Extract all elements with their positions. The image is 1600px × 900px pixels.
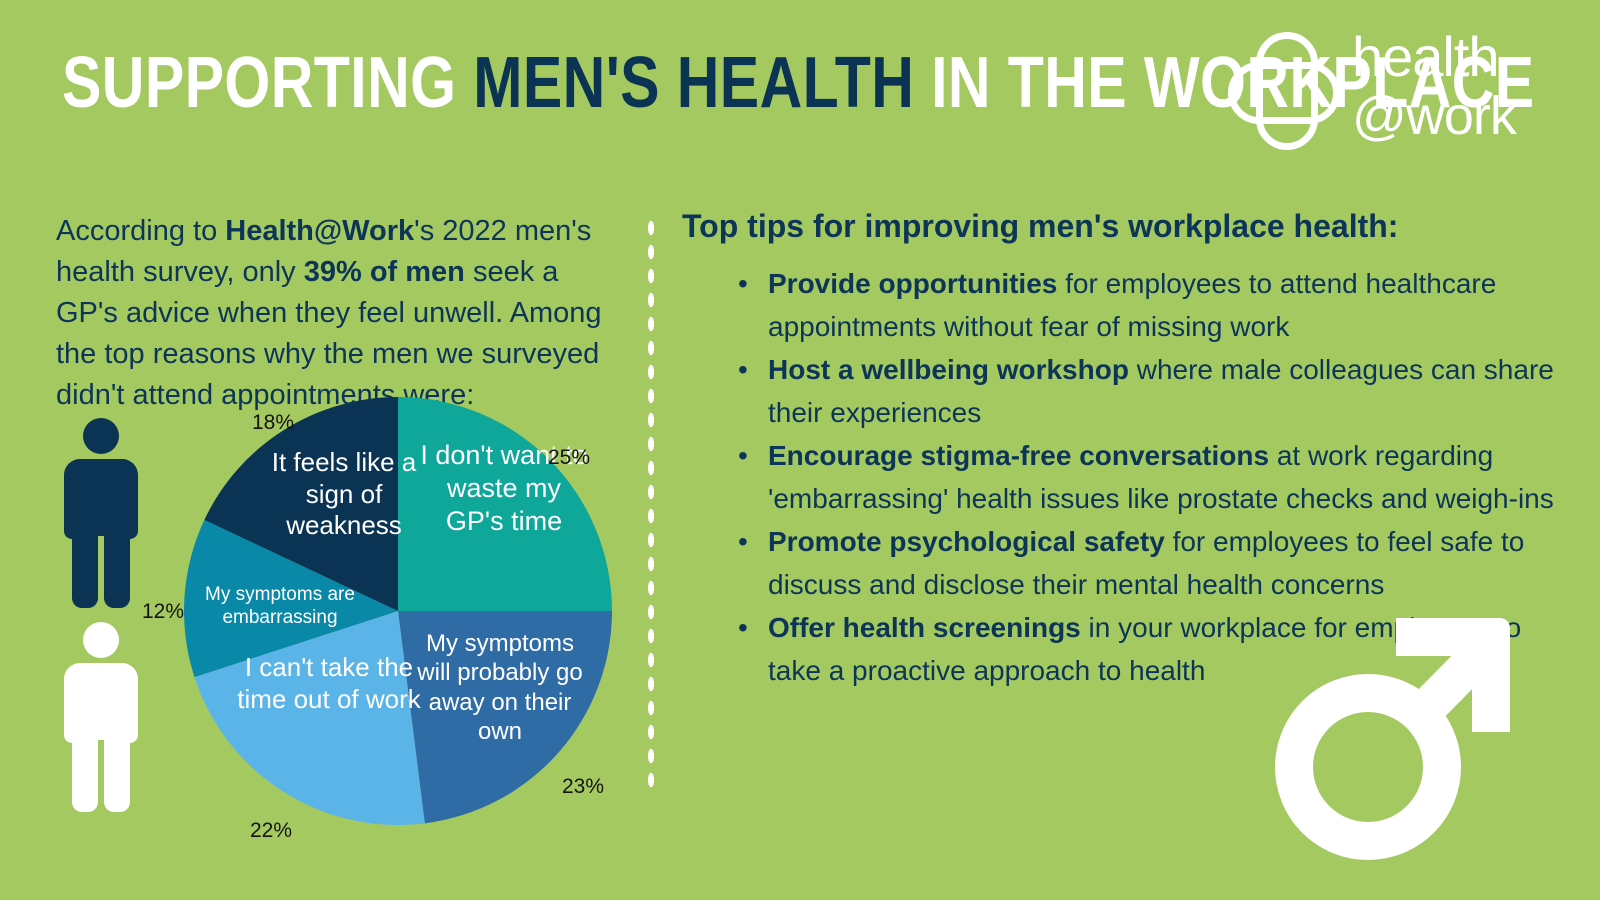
brand-logo-text: health @work [1352, 28, 1562, 146]
title-accent: MEN'S HEALTH [473, 43, 914, 123]
title-part-1: SUPPORTING [62, 43, 473, 123]
person-leg-left [72, 530, 98, 608]
person-head [83, 418, 119, 454]
person-figure-icon-light [64, 622, 138, 812]
logo-horizontal-bar [1228, 62, 1340, 124]
intro-brand-bold: Health@Work [225, 215, 414, 247]
header-banner: SUPPORTING MEN'S HEALTH IN THE WORKPLACE… [0, 0, 1600, 168]
tip-item: Provide opportunities for employees to a… [768, 262, 1568, 348]
pie-pct-label-4: 18% [252, 412, 294, 433]
intro-stat-bold: 39% of men [304, 256, 465, 288]
mars-male-symbol-icon [1272, 612, 1512, 862]
dotted-divider [646, 216, 656, 794]
intro-paragraph: According to Health@Work's 2022 men's he… [56, 211, 628, 416]
tip-item: Promote psychological safety for employe… [768, 520, 1568, 606]
tip-item-bold: Host a wellbeing workshop [768, 354, 1129, 385]
pie-pct-label-3: 12% [142, 601, 184, 622]
pie-pct-label-1: 23% [562, 776, 604, 797]
tips-heading: Top tips for improving men's workplace h… [682, 206, 1512, 246]
intro-text-1: According to [56, 215, 225, 247]
person-leg-gap [98, 740, 104, 812]
person-torso [64, 663, 138, 743]
pie-pct-label-0: 25% [548, 447, 590, 468]
brand-logo[interactable]: health @work [1228, 28, 1558, 156]
person-figure-icon-dark [64, 418, 138, 608]
pie-slice [398, 397, 612, 611]
tip-item-bold: Encourage stigma-free conversations [768, 440, 1269, 471]
page-title: SUPPORTING MEN'S HEALTH IN THE WORKPLACE [62, 40, 989, 126]
pie-pct-label-2: 22% [250, 820, 292, 841]
person-leg-left [72, 734, 98, 812]
logo-text-atwork: @work [1352, 86, 1562, 146]
tip-item: Host a wellbeing workshop where male col… [768, 348, 1568, 434]
tip-item-bold: Offer health screenings [768, 612, 1081, 643]
person-torso [64, 459, 138, 539]
person-leg-gap [98, 536, 104, 608]
tip-item-bold: Promote psychological safety [768, 526, 1165, 557]
person-leg-right [104, 530, 130, 608]
health-at-work-cross-logo-icon [1228, 32, 1340, 150]
logo-text-health: health [1352, 28, 1562, 86]
tip-item: Encourage stigma-free conversations at w… [768, 434, 1568, 520]
tip-item-bold: Provide opportunities [768, 268, 1057, 299]
person-leg-right [104, 734, 130, 812]
person-head [83, 622, 119, 658]
